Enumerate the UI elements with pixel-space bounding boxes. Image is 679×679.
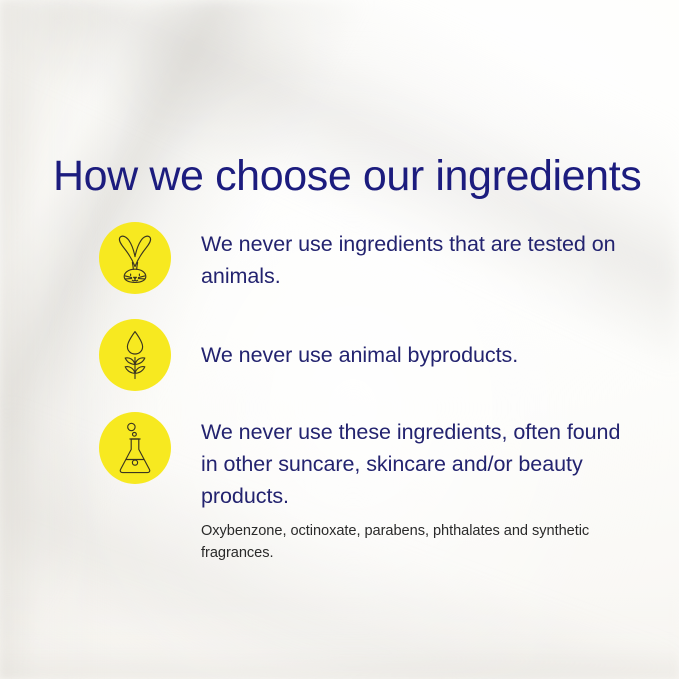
erlenmeyer-flask-icon	[114, 422, 156, 474]
leaf-plant-droplet-icon	[114, 330, 156, 380]
bunny-heart-ears-icon-badge	[99, 222, 171, 294]
list-item-label: We never use animal byproducts.	[201, 339, 621, 371]
ingredients-infographic: How we choose our ingredients	[0, 0, 679, 679]
list-item-label: We never use ingredients that are tested…	[201, 228, 621, 292]
erlenmeyer-flask-icon-badge	[99, 412, 171, 484]
list-item-subtext: Oxybenzone, octinoxate, parabens, phthal…	[201, 520, 621, 564]
page-title: How we choose our ingredients	[53, 148, 641, 204]
list-item-text-block: We never use ingredients that are tested…	[201, 228, 621, 292]
list-item-label: We never use these ingredients, often fo…	[201, 416, 621, 512]
list-item-text-block: We never use animal byproducts.	[201, 339, 621, 371]
leaf-plant-droplet-icon-badge	[99, 319, 171, 391]
bunny-heart-ears-icon	[112, 233, 158, 283]
list-item-text-block: We never use these ingredients, often fo…	[201, 416, 621, 564]
